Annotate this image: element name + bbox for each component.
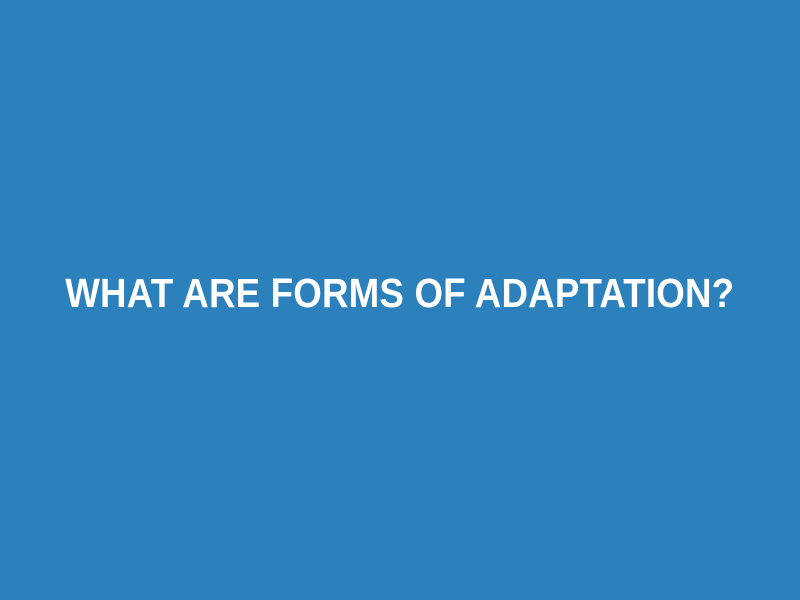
headline-container: WHAT ARE FORMS OF ADAPTATION?: [0, 0, 800, 600]
page-title: WHAT ARE FORMS OF ADAPTATION?: [65, 272, 734, 315]
featured-image-card: WHAT ARE FORMS OF ADAPTATION?: [0, 0, 800, 600]
